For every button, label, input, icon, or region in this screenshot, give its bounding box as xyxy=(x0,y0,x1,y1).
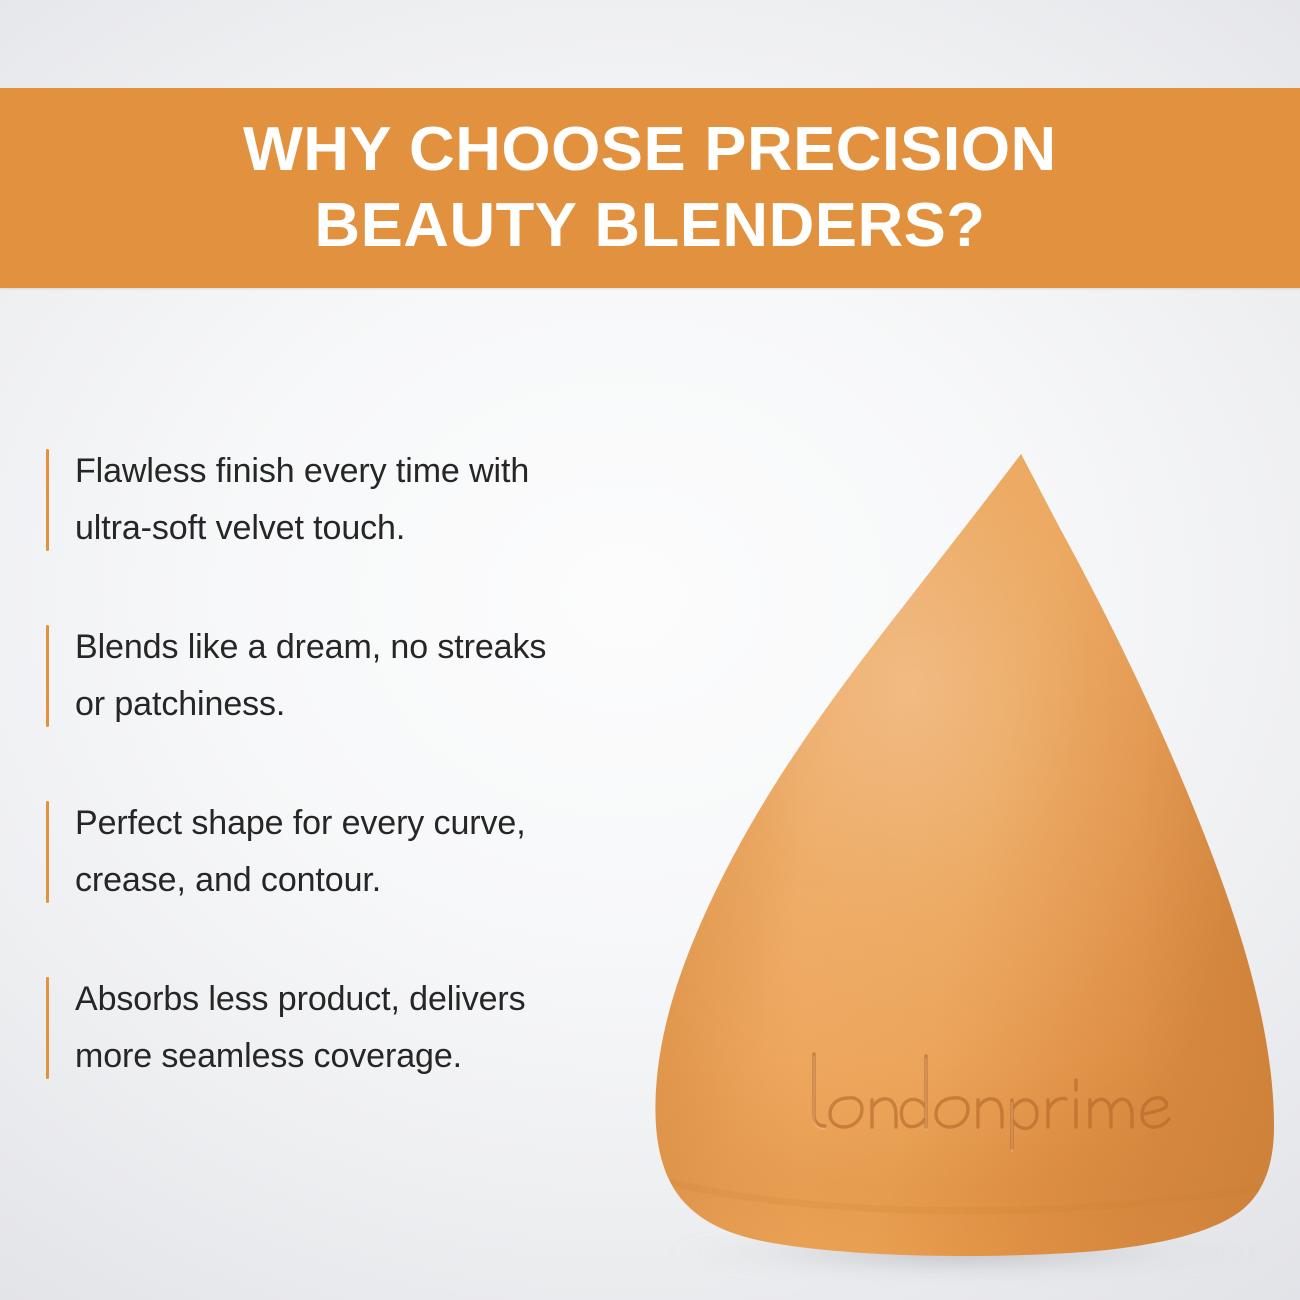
feature-item-1-line-2: ultra-soft velvet touch. xyxy=(75,500,666,557)
feature-item-2-line-2: or patchiness. xyxy=(75,676,666,733)
feature-item-4-line-2: more seamless coverage. xyxy=(75,1028,666,1085)
banner-title-line-1: WHY CHOOSE PRECISION xyxy=(243,112,1057,188)
accent-rule-icon xyxy=(46,625,49,727)
feature-list: Flawless finish every time with ultra-so… xyxy=(46,443,666,1085)
feature-item-3-line-1: Perfect shape for every curve, xyxy=(75,795,666,852)
product-image xyxy=(640,440,1285,1270)
feature-item-1: Flawless finish every time with ultra-so… xyxy=(46,443,666,557)
feature-item-4: Absorbs less product, delivers more seam… xyxy=(46,971,666,1085)
feature-item-4-line-1: Absorbs less product, delivers xyxy=(75,971,666,1028)
sponge-texture xyxy=(640,440,1285,1270)
accent-rule-icon xyxy=(46,801,49,903)
feature-item-3-line-2: crease, and contour. xyxy=(75,852,666,909)
banner-title-line-2: BEAUTY BLENDERS? xyxy=(314,188,985,264)
brand-emboss-label xyxy=(805,1054,1115,1140)
accent-rule-icon xyxy=(46,449,49,551)
feature-item-2-line-1: Blends like a dream, no streaks xyxy=(75,619,666,676)
sponge-illustration xyxy=(640,440,1285,1270)
accent-rule-icon xyxy=(46,977,49,1079)
header-banner: WHY CHOOSE PRECISION BEAUTY BLENDERS? xyxy=(0,88,1300,288)
feature-item-1-line-1: Flawless finish every time with xyxy=(75,443,666,500)
infographic-canvas: WHY CHOOSE PRECISION BEAUTY BLENDERS? Fl… xyxy=(0,0,1300,1300)
feature-item-2: Blends like a dream, no streaks or patch… xyxy=(46,619,666,733)
feature-item-3: Perfect shape for every curve, crease, a… xyxy=(46,795,666,909)
